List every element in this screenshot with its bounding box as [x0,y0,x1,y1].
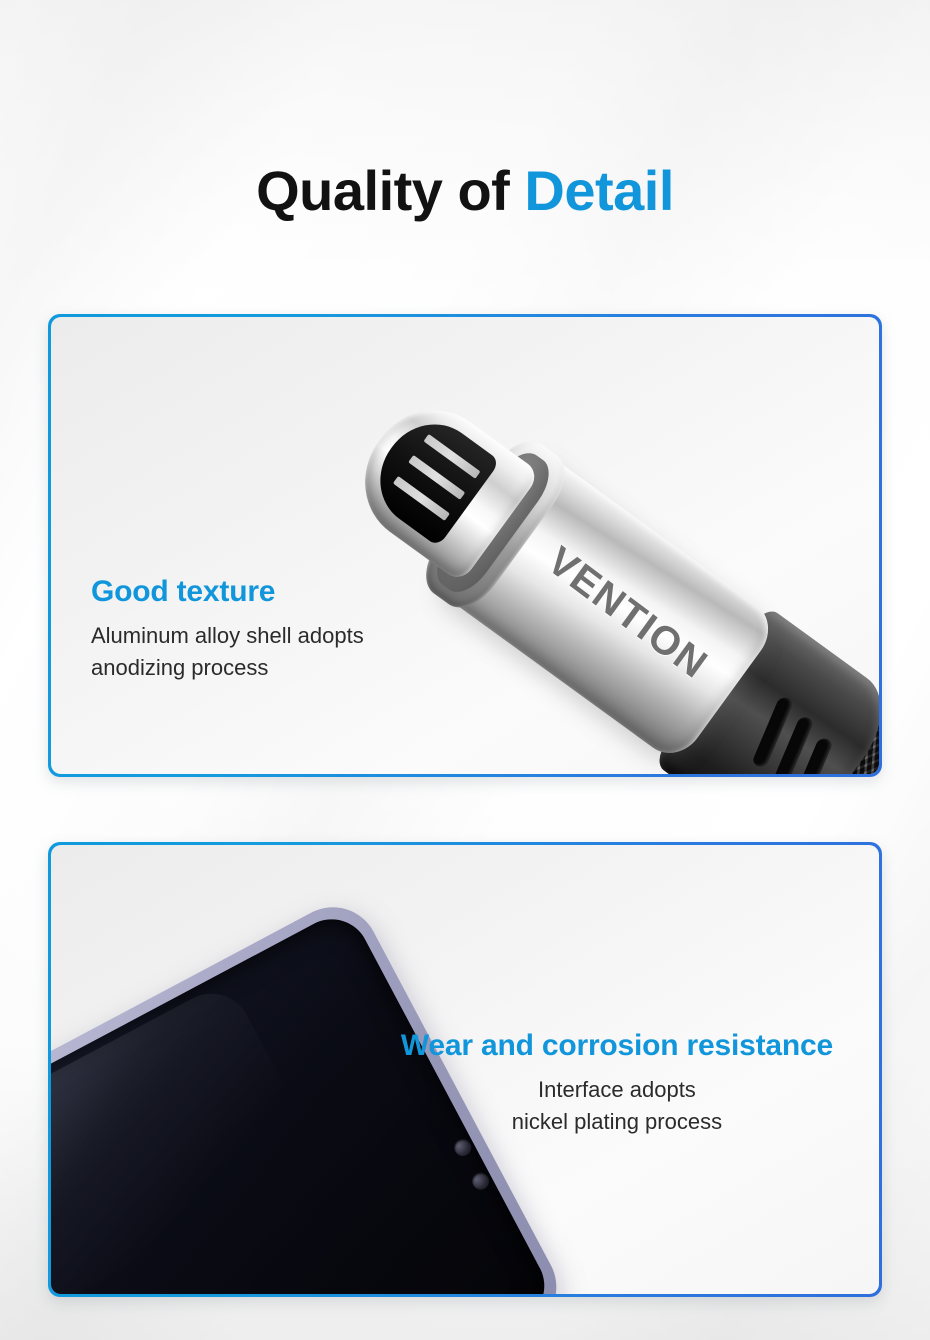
usb-c-connector-illustration: VENTION [51,317,879,774]
page-title-main: Quality of [256,159,524,222]
feature-heading: Good texture [91,573,364,611]
feature-card-wear-corrosion-resistance[interactable]: VENTION Wear and corrosion resistance In… [48,842,882,1297]
feature-card-good-texture[interactable]: VENTION Good texture Aluminum alloy shel… [48,314,882,777]
contact-pin [423,434,480,479]
phone-speaker-hole [451,1136,474,1159]
strain-relief [653,605,879,774]
connector-collar-recess [426,444,559,602]
feature-text-block: Good texture Aluminum alloy shell adopts… [91,573,364,683]
strain-relief-rib [790,737,833,774]
feature-heading: Wear and corrosion resistance [401,1027,833,1065]
phone-mic-hole [469,1170,492,1193]
feature-body: Interface adopts nickel plating process [401,1074,833,1136]
usb-c-tip [340,385,541,583]
feature-text-block: Wear and corrosion resistance Interface … [401,1027,833,1137]
page-title-accent: Detail [524,159,674,222]
contact-pin [393,476,450,521]
strain-relief-rib [771,716,814,774]
phone-drop-shadow [70,1148,472,1294]
vention-brand-logo: VENTION [539,539,716,689]
braided-cable [776,705,879,774]
usb-c-port-cavity [360,405,500,547]
product-detail-page: Quality of Detail [0,0,930,1340]
braided-cable-tail [51,1134,206,1294]
aluminum-barrel [435,447,781,766]
feature-card-inner: VENTION Wear and corrosion resistance In… [51,845,879,1294]
connector-assembly: VENTION [237,317,879,774]
feature-card-inner: VENTION Good texture Aluminum alloy shel… [51,317,879,774]
connector-drop-shadow [481,730,879,774]
feature-body: Aluminum alloy shell adopts anodizing pr… [91,620,364,682]
connector-collar [413,429,578,619]
page-title: Quality of Detail [0,163,930,219]
strain-relief-rib [751,696,794,768]
screen-glare [51,980,325,1294]
contact-pin [408,455,465,500]
